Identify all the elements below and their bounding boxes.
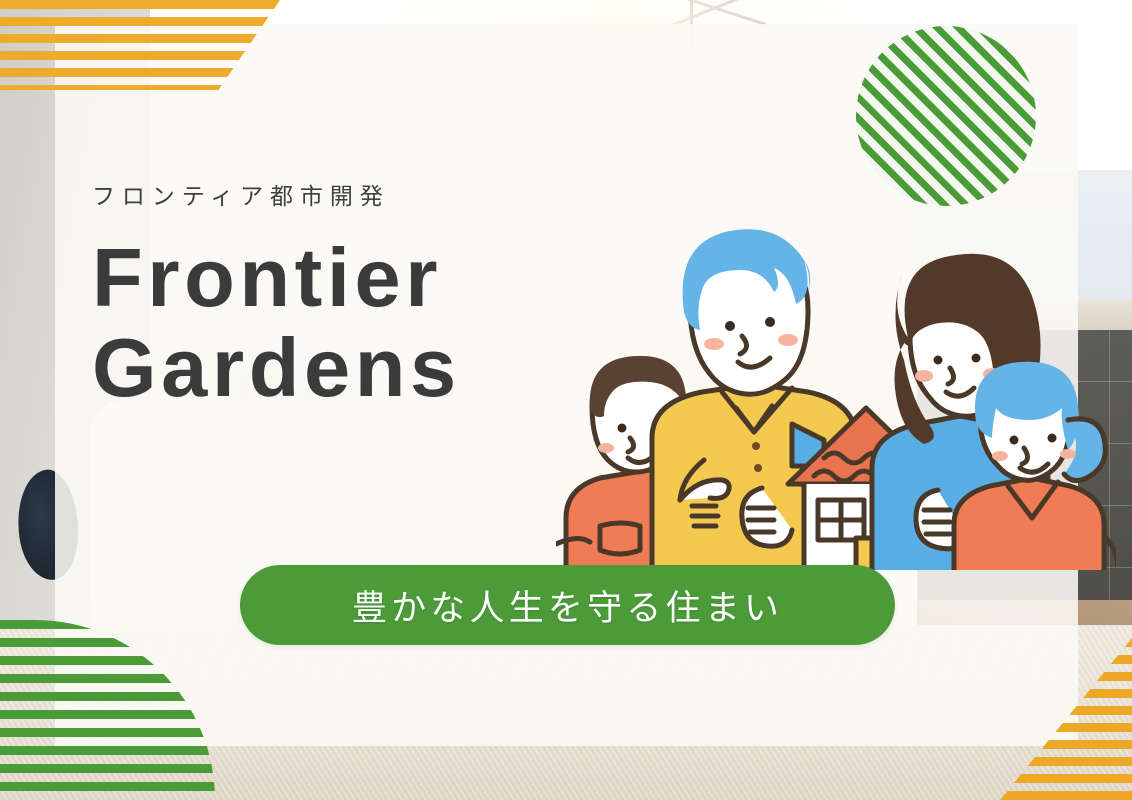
- banner-root: フロンティア都市開発 Frontier Gardens 豊かな人生を守る住まい: [0, 0, 1132, 800]
- tagline-pill[interactable]: 豊かな人生を守る住まい: [240, 565, 895, 645]
- headline-block: フロンティア都市開発 Frontier Gardens: [92, 186, 461, 412]
- company-kicker: フロンティア都市開発: [92, 186, 461, 209]
- family-illustration: [556, 170, 1116, 570]
- tagline-pill-label: 豊かな人生を守る住まい: [352, 580, 783, 631]
- page-title: Frontier Gardens: [92, 233, 461, 412]
